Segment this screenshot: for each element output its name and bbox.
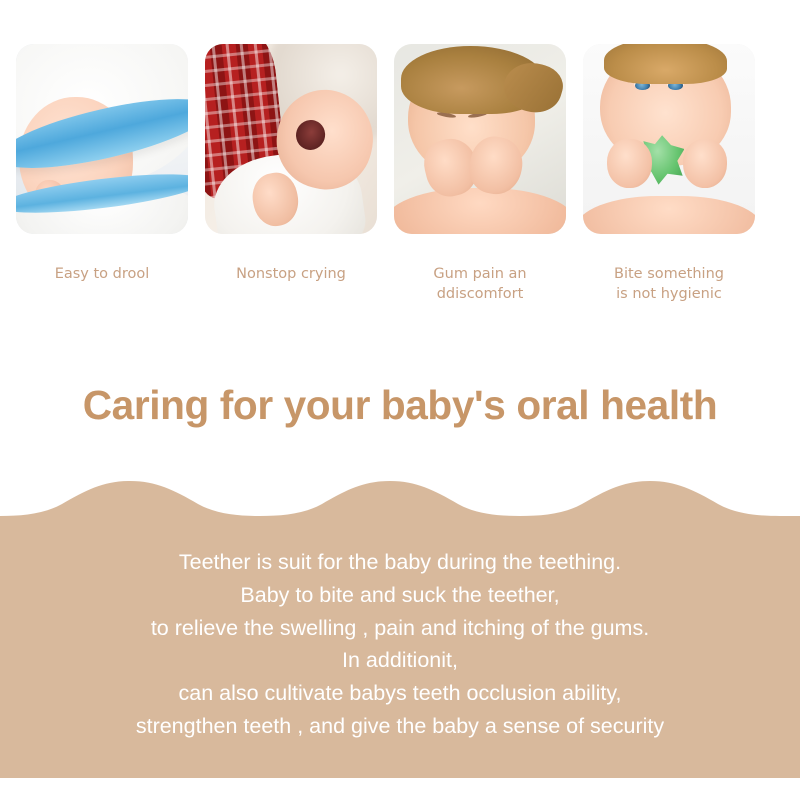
toddler-shoulders-shape <box>394 188 566 234</box>
caption-crying: Nonstop crying <box>205 264 377 304</box>
baby-hand-left <box>607 139 652 188</box>
description-line: Teether is suit for the baby during the … <box>0 546 800 579</box>
baby-hair-shape <box>604 44 728 84</box>
problem-card-crying[interactable] <box>205 44 377 234</box>
caption-hygiene: Bite something is not hygienic <box>583 264 755 304</box>
description-line: Baby to bite and suck the teether, <box>0 579 800 612</box>
description-line: strengthen teeth , and give the baby a s… <box>0 710 800 743</box>
caption-gum-pain: Gum pain an ddiscomfort <box>394 264 566 304</box>
page-headline: Caring for your baby's oral health <box>4 382 796 429</box>
problem-card-gum-pain[interactable] <box>394 44 566 234</box>
toddler-rubbing-eyes-photo <box>394 44 566 234</box>
description-line: can also cultivate babys teeth occlusion… <box>0 677 800 710</box>
product-description-block: Teether is suit for the baby during the … <box>0 546 800 743</box>
caption-drool: Easy to drool <box>16 264 188 304</box>
problem-card-drool[interactable] <box>16 44 188 234</box>
product-infographic-page: Easy to drool Nonstop crying Gum pain an… <box>0 0 800 794</box>
baby-shoulders-shape <box>583 196 755 234</box>
description-line: In additionit, <box>0 644 800 677</box>
description-line: to relieve the swelling , pain and itchi… <box>0 612 800 645</box>
crying-baby-held-photo <box>205 44 377 234</box>
baby-biting-teether-photo <box>583 44 755 234</box>
baby-hand-right <box>683 139 728 188</box>
problem-cards-row <box>16 44 785 234</box>
problem-card-hygiene[interactable] <box>583 44 755 234</box>
baby-drooling-on-towel-photo <box>16 44 188 234</box>
problem-captions-row: Easy to drool Nonstop crying Gum pain an… <box>16 264 785 304</box>
